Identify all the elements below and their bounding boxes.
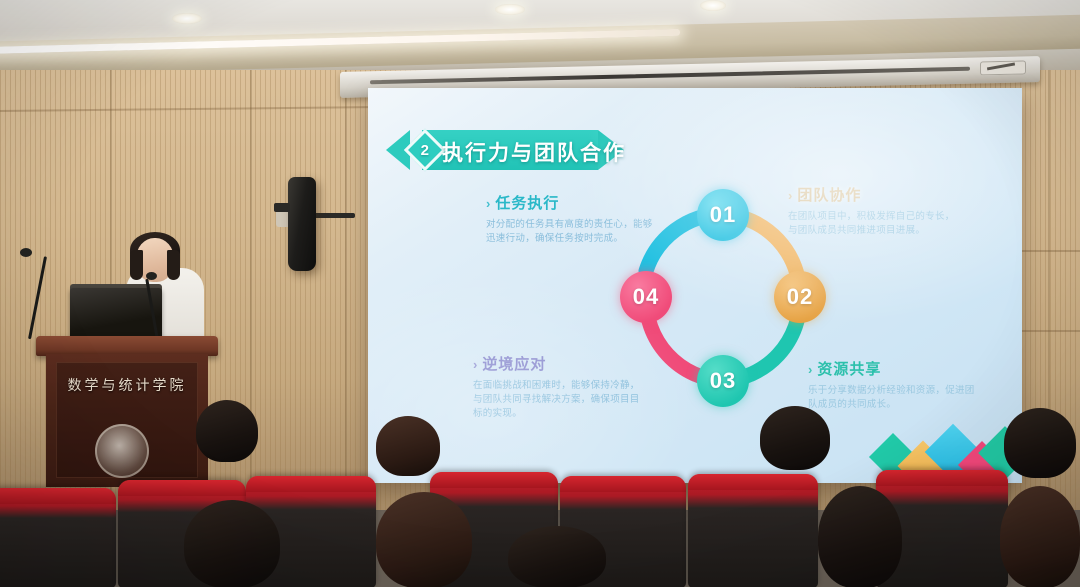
seat-backrest-trim xyxy=(0,488,116,504)
podium-sign-text: 数学与统计学院 xyxy=(56,375,198,395)
wall-speaker-icon xyxy=(288,177,316,271)
seat-backrest-trim xyxy=(118,480,246,496)
presenter-hair-right xyxy=(167,250,180,280)
block-resource-sharing: ›资源共享 乐于分享数据分析经验和资源，促进团队成员的共同成长。 xyxy=(808,358,976,412)
diagram-node-02: 02 xyxy=(774,271,826,323)
diagram-node-03: 03 xyxy=(697,355,749,407)
downlight-icon xyxy=(495,4,525,15)
screen-housing-slot xyxy=(370,67,970,85)
block-adversity-response: ›逆境应对 在面临挑战和困难时，能够保持冷静，与团队共同寻找解决方案，确保项目目… xyxy=(473,353,641,420)
seat-backrest-trim xyxy=(688,474,818,490)
audience-head xyxy=(196,400,258,462)
audience-seating xyxy=(0,430,1080,587)
audience-head xyxy=(760,406,830,470)
block-heading: ›资源共享 xyxy=(808,358,976,379)
seat xyxy=(0,488,116,587)
audience-head xyxy=(1004,408,1076,478)
chevron-right-icon: › xyxy=(473,357,478,372)
microphone-icon xyxy=(20,248,32,257)
block-body-text: 在面临挑战和困难时，能够保持冷静，与团队共同寻找解决方案，确保项目目标的实现。 xyxy=(473,379,641,420)
podium-top xyxy=(36,336,218,356)
block-heading: ›逆境应对 xyxy=(473,353,641,374)
lecture-hall-photo: 2 执行力与团队合作 ›任务执行 对分配的任务具有高度的责任心，能够迅速行动，确… xyxy=(0,0,1080,587)
downlight-icon xyxy=(700,0,726,11)
presenter-hair-left xyxy=(130,250,143,280)
block-heading-text: 任务执行 xyxy=(495,195,559,212)
audience-head xyxy=(376,416,440,476)
chevron-right-icon: › xyxy=(486,196,491,211)
seat-backrest-trim xyxy=(430,472,558,488)
microphone-icon xyxy=(146,272,157,280)
downlight-icon xyxy=(172,13,202,24)
audience-head xyxy=(376,492,472,587)
seat xyxy=(688,474,818,587)
page-title: 执行力与团队合作 xyxy=(442,137,612,163)
projection-screen: 2 执行力与团队合作 ›任务执行 对分配的任务具有高度的责任心，能够迅速行动，确… xyxy=(368,88,1022,483)
diagram-node-01: 01 xyxy=(697,189,749,241)
circular-process-diagram: 01 02 03 04 xyxy=(618,192,828,410)
diagram-node-04: 04 xyxy=(620,271,672,323)
audience-head xyxy=(184,500,280,587)
section-number: 2 xyxy=(421,142,429,159)
audience-head xyxy=(508,526,606,587)
block-heading-text: 逆境应对 xyxy=(482,356,546,373)
block-body-text: 乐于分享数据分析经验和资源，促进团队成员的共同成长。 xyxy=(808,384,976,412)
slide-title-ribbon: 2 执行力与团队合作 xyxy=(376,130,628,170)
presentation-slide: 2 执行力与团队合作 ›任务执行 对分配的任务具有高度的责任心，能够迅速行动，确… xyxy=(368,88,1022,483)
screen-housing-bracket xyxy=(980,60,1026,75)
audience-head xyxy=(818,486,902,587)
seat-backrest-trim xyxy=(876,470,1008,486)
seat-backrest-trim xyxy=(246,476,376,492)
speaker-arm xyxy=(313,213,355,218)
seat-backrest-trim xyxy=(560,476,686,492)
audience-head xyxy=(1000,486,1080,587)
